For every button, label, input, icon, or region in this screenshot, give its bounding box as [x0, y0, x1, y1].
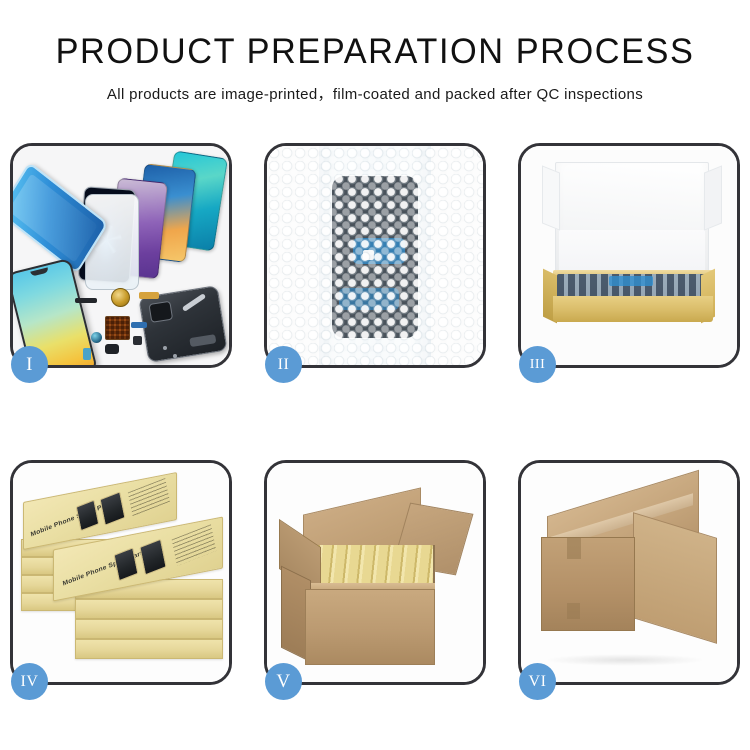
panel-2-image [267, 146, 483, 365]
part-screw-2 [173, 354, 177, 358]
panel-4-badge: IV [11, 663, 48, 700]
panel-6-image [521, 463, 737, 682]
process-panel-6[interactable]: VI [518, 460, 740, 685]
panel-3-image [521, 146, 737, 365]
mailer-wrapped-contents [557, 274, 709, 298]
panel-2-badge: II [265, 346, 302, 383]
retail-box-screen-2b [139, 539, 166, 576]
process-panel-1[interactable]: I [10, 143, 232, 368]
part-flex-cable [139, 292, 159, 299]
process-panel-2[interactable]: II [264, 143, 486, 368]
retail-box-textblock-1 [128, 478, 170, 517]
retail-box-textblock-2 [172, 524, 217, 566]
process-panel-3[interactable]: III [518, 143, 740, 368]
page-subtitle: All products are image-printed，film-coat… [0, 83, 750, 104]
panel-5-image [267, 463, 483, 682]
part-connector-bar [75, 298, 97, 303]
part-screw-1 [163, 346, 167, 350]
part-speaker [105, 344, 119, 354]
retail-box-r2 [75, 599, 223, 619]
sealed-carton-tape-lower [567, 603, 580, 619]
panel-1-image [13, 146, 229, 365]
retail-box-stack: Mobile Phone Spare Parts Mobile Phone Sp… [19, 481, 225, 671]
page-header: PRODUCT PREPARATION PROCESS All products… [0, 0, 750, 104]
part-battery-connector [83, 348, 91, 360]
carton-front-panel [305, 589, 435, 665]
panel-5-badge: V [265, 663, 302, 700]
process-panel-5[interactable]: V [264, 460, 486, 685]
mailer-tray-front-wall [553, 296, 713, 322]
sealed-carton-tape-upper [567, 537, 581, 559]
process-panel-4[interactable]: Mobile Phone Spare Parts Mobile Phone Sp… [10, 460, 232, 685]
part-copper-shield [105, 316, 130, 340]
process-panel-grid: I II III [10, 143, 740, 685]
page-title: PRODUCT PREPARATION PROCESS [8, 34, 743, 71]
panel-3-badge: III [519, 346, 556, 383]
sealed-carton-front-panel [541, 537, 635, 631]
retail-box-r3 [75, 619, 223, 639]
panel-6-badge: VI [519, 663, 556, 700]
panel-4-image: Mobile Phone Spare Parts Mobile Phone Sp… [13, 463, 229, 682]
part-wireless-coil [111, 288, 130, 307]
retail-box-screen-1b [100, 491, 126, 525]
retail-box-screen-1a [76, 500, 100, 532]
retail-box-r4 [75, 639, 223, 659]
panel-1-badge: I [11, 346, 48, 383]
part-chip [133, 336, 142, 345]
part-camera-lens [91, 332, 102, 343]
bubble-wrap-texture-overlay [267, 146, 483, 365]
sealed-carton-shadow [545, 654, 705, 666]
part-flex-cable-blue [131, 322, 147, 328]
